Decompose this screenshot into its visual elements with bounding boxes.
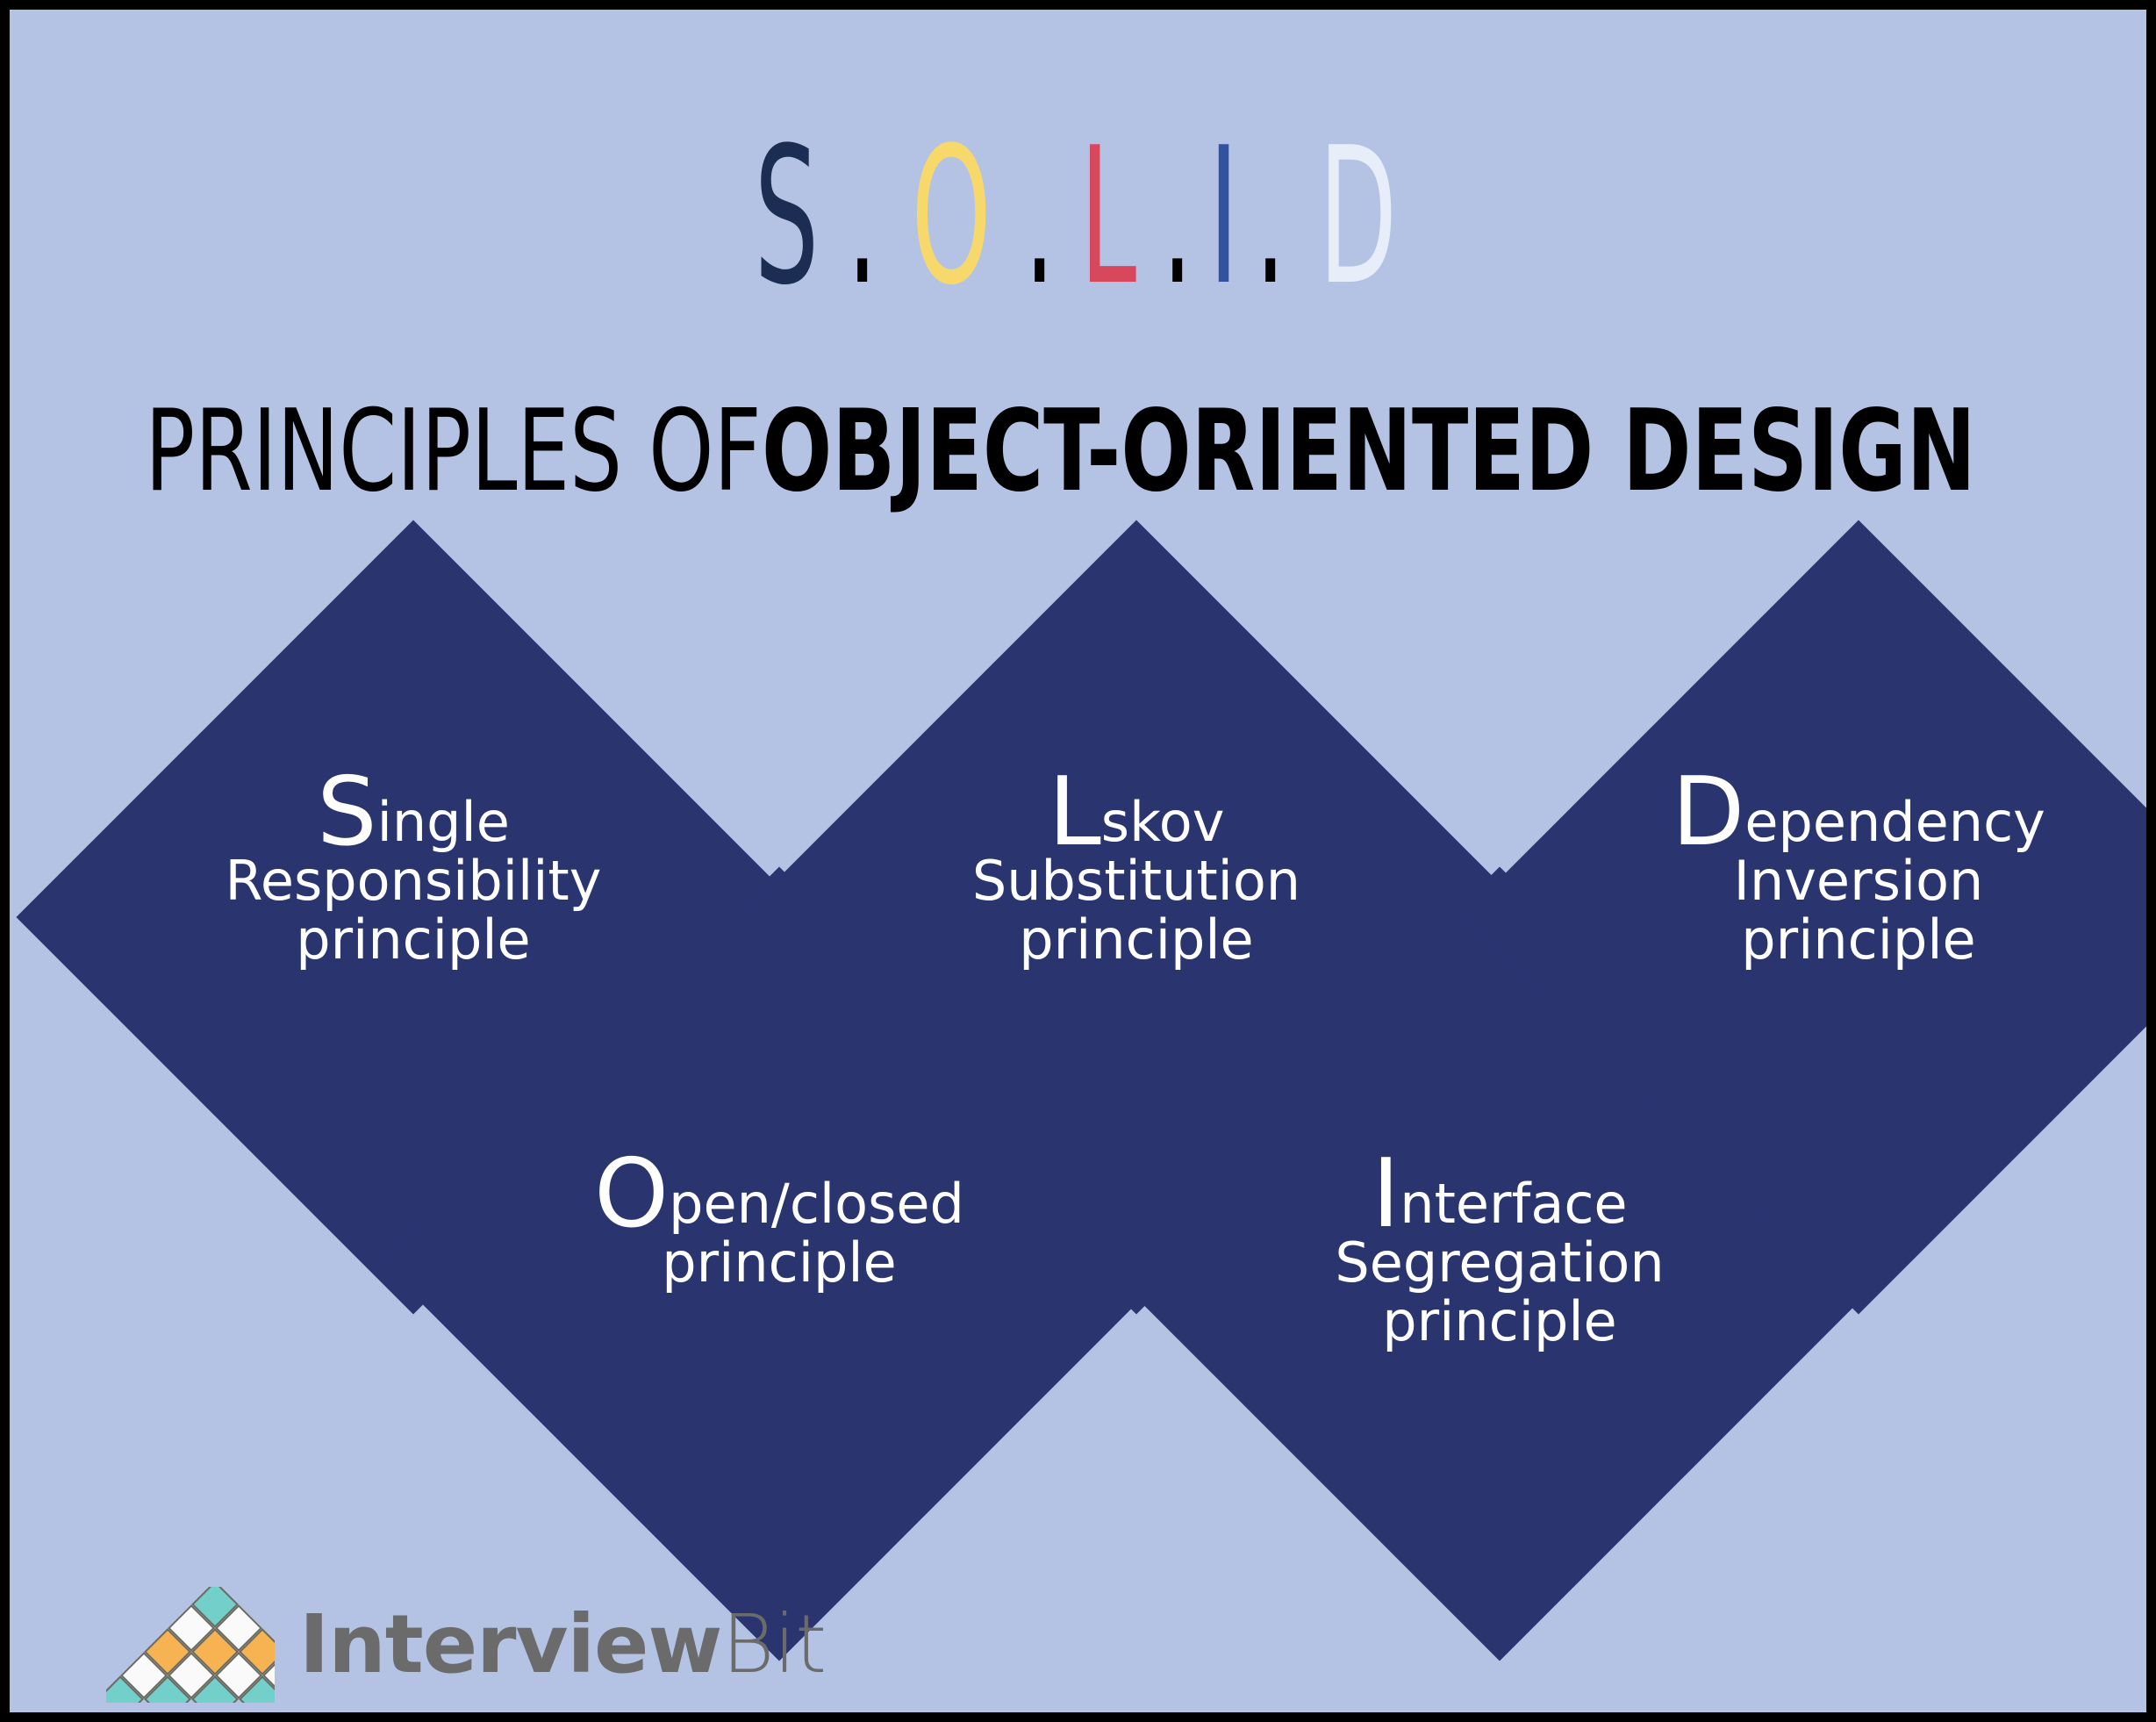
infographic-canvas: S.O.L.I.D PRINCIPLES OF OBJECT-ORIENTED … xyxy=(0,0,2156,1722)
title-dot-3: . xyxy=(1163,122,1193,311)
title-letter-d: D xyxy=(1319,122,1397,311)
interviewbit-logo[interactable]: InterviewBit xyxy=(106,1583,826,1706)
title-dot-1: . xyxy=(848,122,877,311)
logo-name-bold: Interview xyxy=(299,1597,721,1691)
subtitle-regular-text: PRINCIPLES OF xyxy=(145,396,762,508)
page-subtitle: PRINCIPLES OF OBJECT-ORIENTED DESIGN xyxy=(10,396,2146,508)
logo-name-light: Bit xyxy=(721,1597,826,1691)
subtitle-bold-text: OBJECT-ORIENTED DESIGN xyxy=(762,396,1976,508)
page-title: S.O.L.I.D xyxy=(10,122,2146,311)
title-letter-i: I xyxy=(1209,122,1239,311)
title-letter-l: L xyxy=(1080,122,1137,311)
title-dot-4: . xyxy=(1256,122,1286,311)
title-dot-2: . xyxy=(1025,122,1055,311)
title-letter-o: O xyxy=(911,122,991,311)
interviewbit-pyramid-icon xyxy=(106,1587,275,1703)
title-letter-s: S xyxy=(755,122,820,311)
interviewbit-wordmark: InterviewBit xyxy=(299,1604,826,1685)
